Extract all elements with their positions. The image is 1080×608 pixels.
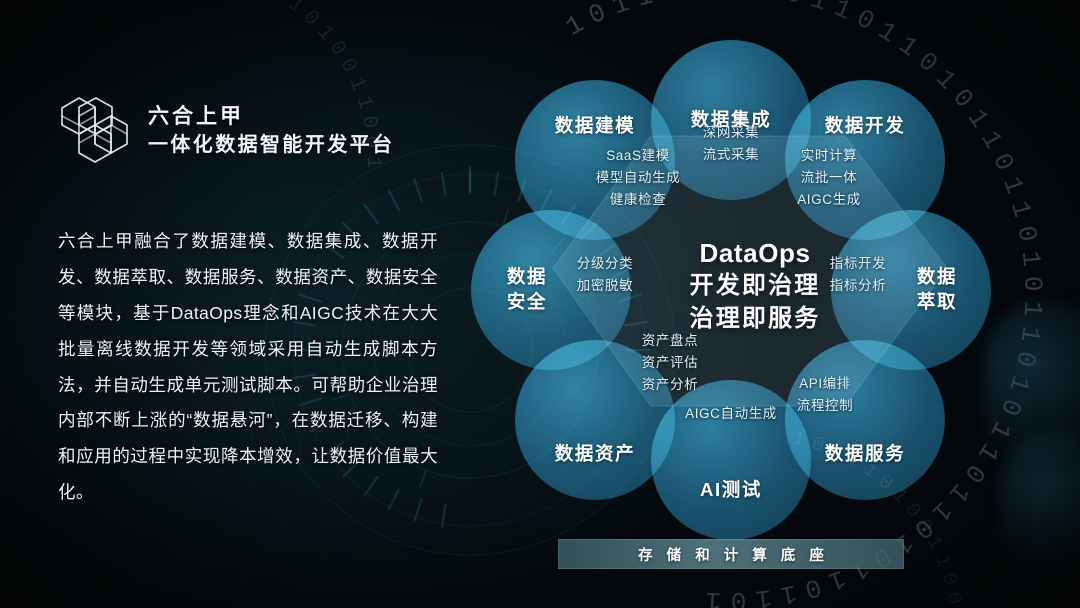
description-paragraph: 六合上甲融合了数据建模、数据集成、数据开发、数据萃取、数据服务、数据资产、数据安… [58,224,438,511]
isometric-brick-cube-icon [58,92,132,168]
feature-item: AIGC自动生成 [651,403,811,425]
bubble-label: 数据开发 [825,114,905,139]
dataops-venn-diagram: 数据集成 数据建模 数据开发 数据 安全 数据 萃取 数据资产 [455,18,1055,548]
feature-item: AIGC生成 [755,189,903,211]
feature-item: 实时计算 [755,145,903,167]
feature-item: 深网采集 [658,122,804,144]
feature-item: 资产评估 [605,352,735,374]
feature-item: 健康检查 [563,189,713,211]
center-line-1: DataOps [640,236,870,270]
bubble-label: AI测试 [700,478,762,503]
bubble-label: 数据建模 [555,114,635,139]
features-testing: AIGC自动生成 [651,403,811,425]
center-line-2: 开发即治理 [640,270,870,303]
feature-item: 资产分析 [605,374,735,396]
feature-item: API编排 [755,373,895,395]
bubble-label: 数据资产 [555,442,635,467]
center-line-3: 治理即服务 [640,303,870,336]
brand-subtitle: 一体化数据智能开发平台 [148,131,394,159]
feature-item: 流批一体 [755,167,903,189]
brand-block: 六合上甲 一体化数据智能开发平台 [58,92,438,168]
left-content-panel: 六合上甲 一体化数据智能开发平台 六合上甲融合了数据建模、数据集成、数据开发、数… [58,92,438,511]
brand-name: 六合上甲 [148,103,394,131]
storage-compute-base-bar: 存 储 和 计 算 底 座 [558,539,904,569]
features-development: 实时计算 流批一体 AIGC生成 [755,145,903,211]
bubble-label: 数据服务 [825,442,905,467]
slide-canvas: 1011011010110110101101101011010110110101… [0,0,1080,608]
features-asset: 资产盘点 资产评估 资产分析 [605,330,735,396]
base-bar-label: 存 储 和 计 算 底 座 [633,544,829,565]
center-label: DataOps 开发即治理 治理即服务 [640,236,870,336]
feature-item: 模型自动生成 [563,167,713,189]
